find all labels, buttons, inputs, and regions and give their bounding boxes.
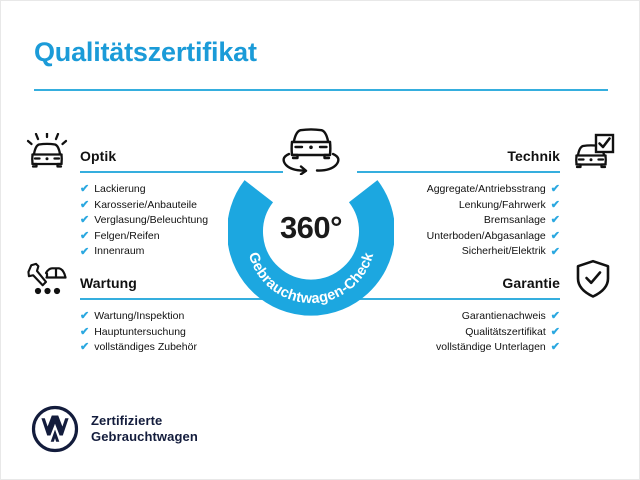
vw-roundel-icon (31, 405, 79, 453)
list-item-label: Lackierung (94, 182, 145, 198)
section-header: Garantie (367, 258, 617, 300)
list-item: vollständige Unterlagen✔ (367, 340, 617, 356)
car-checkbox-icon (569, 131, 617, 173)
wrench-car-icon (23, 258, 71, 300)
list-item-label: Qualitätszertifikat (465, 325, 546, 341)
list-item-label: Unterboden/Abgasanlage (427, 229, 546, 245)
badge-number: 360° (228, 210, 394, 246)
list-item-label: Lenkung/Fahrwerk (459, 198, 546, 214)
list-item: Lenkung/Fahrwerk✔ (367, 198, 617, 214)
vw-logo-line2: Gebrauchtwagen (91, 429, 198, 445)
list-item: Aggregate/Antriebsstrang✔ (367, 182, 617, 198)
list-item: ✔Hauptuntersuchung (23, 325, 273, 341)
check-icon: ✔ (551, 231, 560, 242)
check-icon: ✔ (551, 247, 560, 258)
list-item-label: Aggregate/Antriebsstrang (427, 182, 546, 198)
shield-check-icon (569, 258, 617, 300)
360-check-badge: Gebrauchtwagen-Check 360° (228, 156, 394, 322)
check-icon: ✔ (551, 215, 560, 226)
check-icon: ✔ (80, 200, 89, 211)
check-icon: ✔ (551, 311, 560, 322)
list-item-label: vollständige Unterlagen (436, 340, 546, 356)
check-icon: ✔ (80, 342, 89, 353)
check-icon: ✔ (80, 215, 89, 226)
check-icon: ✔ (80, 311, 89, 322)
section-title: Wartung (80, 275, 137, 291)
title-divider (34, 89, 608, 91)
checklist: Aggregate/Antriebsstrang✔ Lenkung/Fahrwe… (367, 182, 617, 260)
list-item-label: Verglasung/Beleuchtung (94, 213, 208, 229)
section-header: Technik (367, 131, 617, 173)
list-item: Garantienachweis✔ (367, 309, 617, 325)
check-icon: ✔ (80, 327, 89, 338)
section-title: Garantie (502, 275, 560, 291)
section-garantie: Garantie Garantienachweis✔ Qualitätszert… (367, 258, 617, 372)
section-title: Optik (80, 148, 116, 164)
list-item: Qualitätszertifikat✔ (367, 325, 617, 341)
check-icon: ✔ (551, 184, 560, 195)
checklist: Garantienachweis✔ Qualitätszertifikat✔ v… (367, 309, 617, 356)
check-icon: ✔ (551, 342, 560, 353)
vw-logo-line1: Zertifizierte (91, 413, 198, 429)
list-item-label: Felgen/Reifen (94, 229, 159, 245)
section-title: Technik (507, 148, 560, 164)
check-icon: ✔ (80, 247, 89, 258)
check-icon: ✔ (80, 231, 89, 242)
list-item: ✔vollständiges Zubehör (23, 340, 273, 356)
list-item-label: Hauptuntersuchung (94, 325, 186, 341)
vw-logo-text: Zertifizierte Gebrauchtwagen (91, 413, 198, 445)
check-icon: ✔ (551, 200, 560, 211)
list-item: Unterboden/Abgasanlage✔ (367, 229, 617, 245)
certificate-canvas: Qualitätszertifikat (0, 0, 640, 480)
car-rotation-icon (272, 123, 350, 175)
check-icon: ✔ (80, 184, 89, 195)
car-shine-icon (23, 131, 71, 173)
check-icon: ✔ (551, 327, 560, 338)
list-item-label: Garantienachweis (462, 309, 546, 325)
list-item-label: Wartung/Inspektion (94, 309, 184, 325)
vw-footer-logo: Zertifizierte Gebrauchtwagen (31, 405, 198, 453)
list-item-label: Bremsanlage (484, 213, 546, 229)
section-technik: Technik Aggregate/Antriebsstrang✔ Lenkun… (367, 131, 617, 276)
list-item: Bremsanlage✔ (367, 213, 617, 229)
list-item-label: vollständiges Zubehör (94, 340, 197, 356)
page-title: Qualitätszertifikat (34, 37, 257, 68)
list-item-label: Karosserie/Anbauteile (94, 198, 197, 214)
